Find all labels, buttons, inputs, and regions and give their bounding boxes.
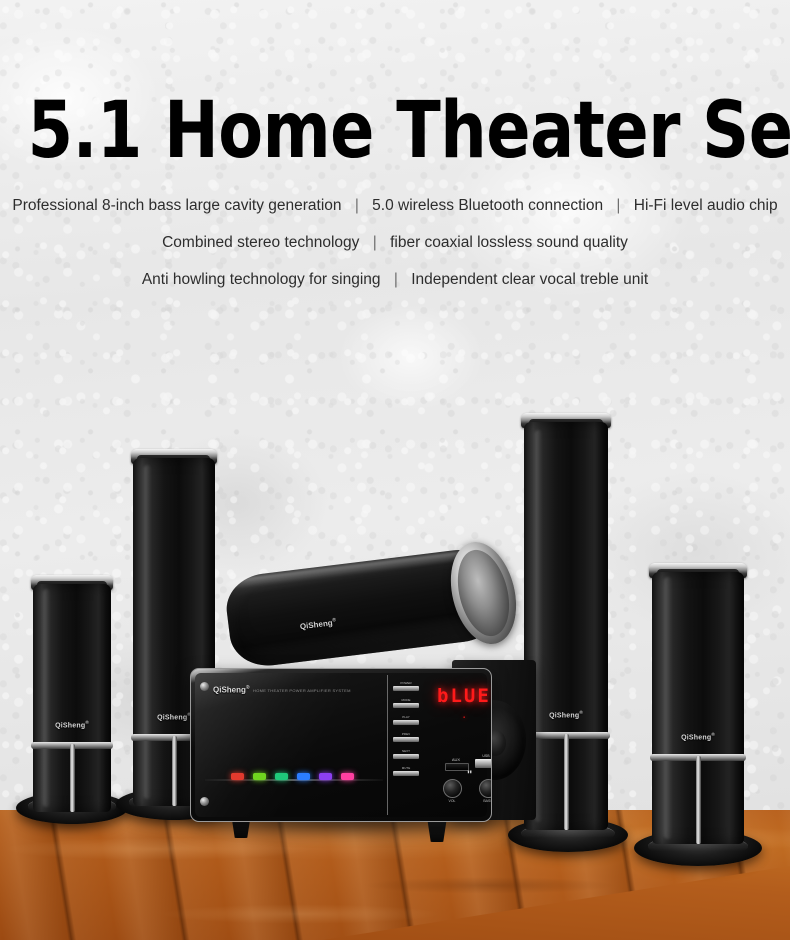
feature-separator: | <box>607 198 629 214</box>
feature-list: Professional 8-inch bass large cavity ge… <box>0 198 790 309</box>
indicator-led <box>253 773 266 780</box>
feature-line-3: Anti howling technology for singing | In… <box>0 272 790 288</box>
button-key[interactable] <box>393 703 419 708</box>
brand-logo: QiSheng® <box>33 720 111 729</box>
volume-knob[interactable] <box>443 779 462 798</box>
amplifier-screw <box>200 682 209 691</box>
feature-text: Anti howling technology for singing <box>142 271 381 288</box>
button-label: MUTE <box>391 766 421 770</box>
knob-divider-mark: " <box>467 769 472 781</box>
indicator-led <box>319 773 332 780</box>
usb-port[interactable] <box>475 759 492 768</box>
brand-logo: QiSheng® <box>652 732 744 741</box>
speaker-center-post <box>70 744 75 812</box>
button-key[interactable] <box>393 686 419 691</box>
speaker-highlight <box>144 465 151 799</box>
aux-label: AUX <box>441 757 471 762</box>
feature-text: fiber coaxial lossless sound quality <box>390 234 628 251</box>
feature-text: 5.0 wireless Bluetooth connection <box>372 197 603 214</box>
feature-text: Hi-Fi level audio chip <box>634 197 778 214</box>
amplifier-indicator-strip <box>231 771 369 781</box>
tower-speaker-right-outer: QiSheng® <box>652 572 744 844</box>
feature-line-2: Combined stereo technology | fiber coaxi… <box>0 235 790 251</box>
button-key[interactable] <box>393 771 419 776</box>
button-label: POWER <box>391 681 421 685</box>
amplifier-button[interactable]: PREV <box>391 732 421 742</box>
tower-speaker-right-inner: QiSheng® <box>524 422 608 830</box>
amplifier-button[interactable]: POWER <box>391 681 421 691</box>
amplifier-shell: QiSheng® HOME THEATER POWER AMPLIFIER SY… <box>190 668 492 822</box>
speaker-center-post <box>172 736 177 806</box>
amplifier-button-column: POWER MODE PLAY PREV NEXT <box>391 681 421 783</box>
amplifier-button[interactable]: PLAY <box>391 715 421 725</box>
button-key[interactable] <box>393 737 419 742</box>
amplifier-button[interactable]: MODE <box>391 698 421 708</box>
speaker-highlight <box>43 589 50 808</box>
feature-text: Independent clear vocal treble unit <box>411 271 648 288</box>
amplifier-model-text: HOME THEATER POWER AMPLIFIER SYSTEM <box>253 688 351 693</box>
knob-label: VOL <box>441 799 463 803</box>
button-key[interactable] <box>393 720 419 725</box>
indicator-led <box>341 773 354 780</box>
button-label: PLAY <box>391 715 421 719</box>
brand-logo: QiSheng® <box>213 685 250 695</box>
bass-knob[interactable] <box>479 779 492 798</box>
led-display: bLUE <box>437 685 492 707</box>
feature-line-1: Professional 8-inch bass large cavity ge… <box>0 198 790 214</box>
speaker-center-post <box>564 734 569 830</box>
amplifier-screw <box>200 797 209 806</box>
brand-logo: QiSheng® <box>524 710 608 719</box>
amplifier-panel-divider <box>387 675 388 815</box>
button-label: PREV <box>391 732 421 736</box>
knob-label: BASS <box>477 799 492 803</box>
amplifier-button[interactable]: MUTE <box>391 766 421 776</box>
feature-separator: | <box>346 198 368 214</box>
feature-separator: | <box>364 235 386 251</box>
amplifier-unit: QiSheng® HOME THEATER POWER AMPLIFIER SY… <box>190 668 490 820</box>
indicator-led <box>275 773 288 780</box>
button-label: NEXT <box>391 749 421 753</box>
indicator-led <box>297 773 310 780</box>
button-label: MODE <box>391 698 421 702</box>
usb-label: USB <box>475 754 492 758</box>
amplifier-button[interactable]: NEXT <box>391 749 421 759</box>
feature-text: Professional 8-inch bass large cavity ge… <box>12 197 341 214</box>
speaker-center-post <box>696 756 701 844</box>
indicator-led <box>231 773 244 780</box>
speaker-highlight <box>664 577 672 838</box>
satellite-speaker-left-outer: QiSheng® <box>33 584 111 812</box>
feature-separator: | <box>385 272 407 288</box>
product-banner: 5.1 Home Theater Set Professional 8-inch… <box>0 0 790 940</box>
led-indicator-dot: ▪ <box>463 715 465 721</box>
speaker-highlight <box>535 430 543 822</box>
feature-text: Combined stereo technology <box>162 234 359 251</box>
aux-jack[interactable] <box>445 763 469 771</box>
button-key[interactable] <box>393 754 419 759</box>
